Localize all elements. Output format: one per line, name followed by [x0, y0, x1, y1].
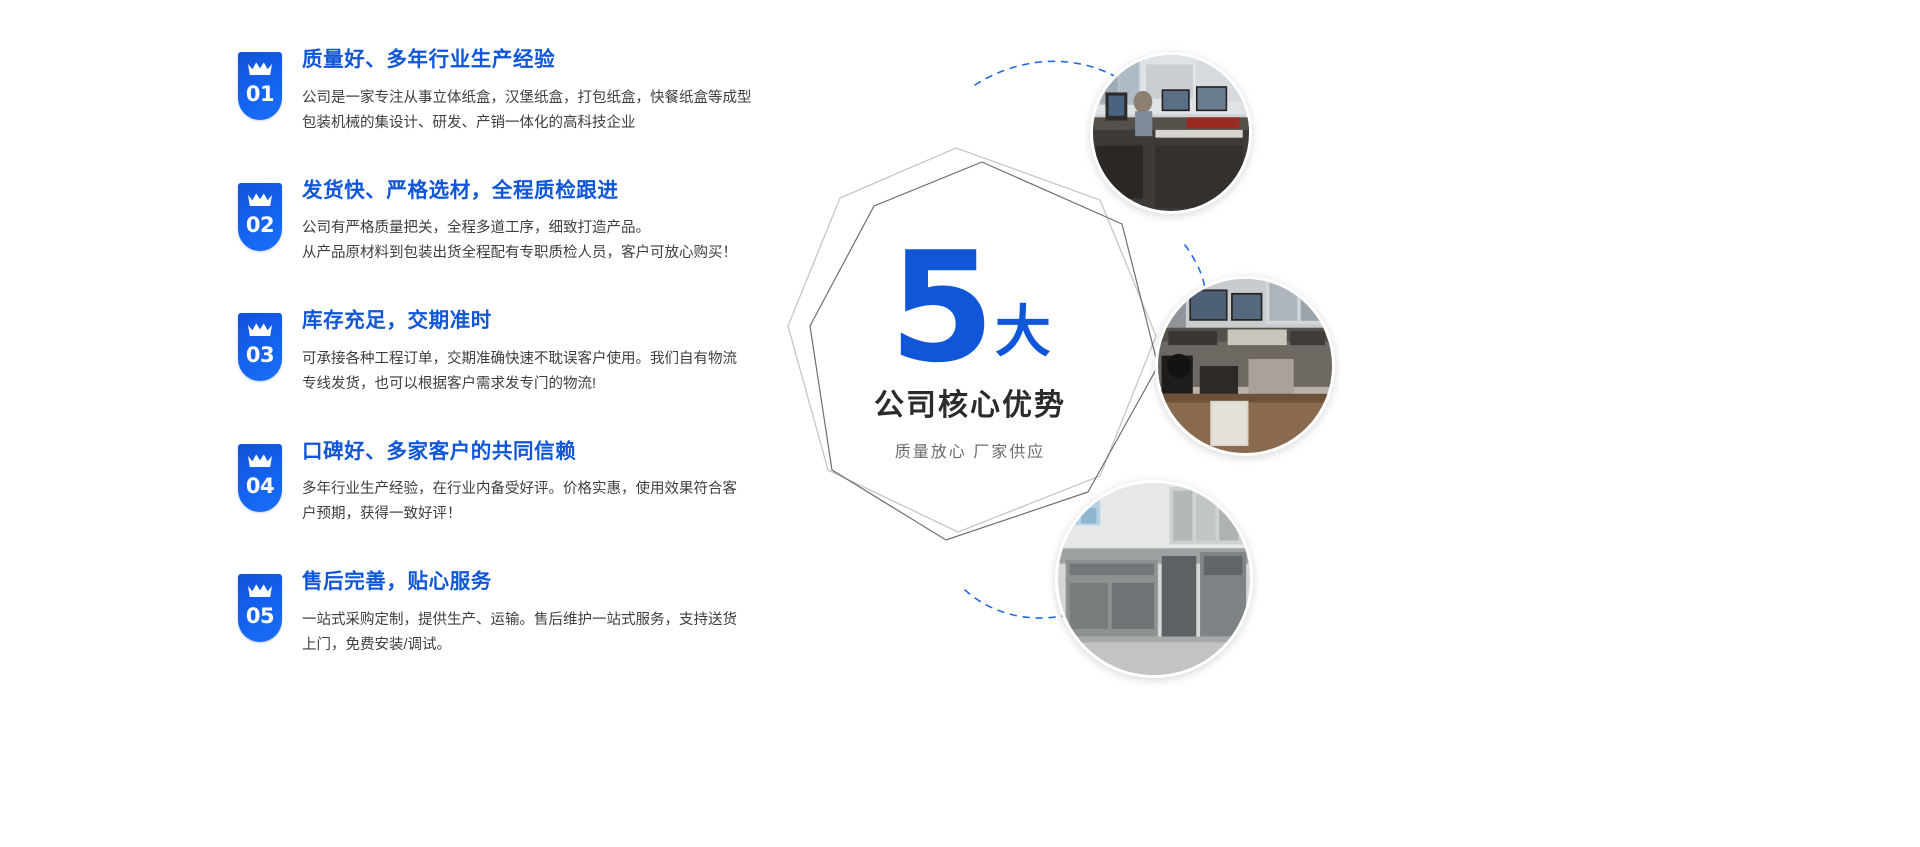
office-desks-photo	[1155, 276, 1335, 456]
feature-body: 一站式采购定制，提供生产、运输。售后维护一站式服务，支持送货 上门，免费安装/调…	[302, 608, 737, 658]
crown-icon	[247, 583, 273, 599]
feature-title: 口碑好、多家客户的共同信赖	[302, 440, 737, 465]
feature-body-line: 包装机械的集设计、研发、产销一体化的高科技企业	[302, 111, 752, 136]
feature-body: 公司是一家专注从事立体纸盒，汉堡纸盒，打包纸盒，快餐纸盒等成型 包装机械的集设计…	[302, 86, 752, 136]
photo-group	[1040, 40, 1370, 700]
feature-item-04[interactable]: 04 口碑好、多家客户的共同信赖 多年行业生产经验，在行业内备受好评。价格实惠，…	[238, 440, 798, 528]
feature-body-line: 多年行业生产经验，在行业内备受好评。价格实惠，使用效果符合客	[302, 477, 737, 502]
crown-icon	[247, 453, 273, 469]
office-workstation-photo	[1090, 52, 1252, 214]
feature-body-line: 从产品原材料到包装出货全程配有专职质检人员，客户可放心购买！	[302, 241, 737, 266]
feature-list: 01 质量好、多年行业生产经验 公司是一家专注从事立体纸盒，汉堡纸盒，打包纸盒，…	[238, 48, 798, 658]
crown-icon	[247, 192, 273, 208]
feature-text: 库存充足，交期准时 可承接各种工程订单，交期准确快速不耽误客户使用。我们自有物流…	[302, 309, 737, 397]
feature-badge: 02	[238, 183, 282, 251]
feature-number: 03	[246, 345, 274, 366]
feature-text: 发货快、严格选材，全程质检跟进 公司有严格质量把关，全程多道工序，细致打造产品。…	[302, 179, 737, 267]
feature-text: 售后完善，贴心服务 一站式采购定制，提供生产、运输。售后维护一站式服务，支持送货…	[302, 570, 737, 658]
feature-title: 售后完善，贴心服务	[302, 570, 737, 595]
feature-badge: 01	[238, 52, 282, 120]
factory-machine-photo	[1055, 480, 1253, 678]
feature-body: 公司有严格质量把关，全程多道工序，细致打造产品。 从产品原材料到包装出货全程配有…	[302, 216, 737, 266]
feature-item-05[interactable]: 05 售后完善，贴心服务 一站式采购定制，提供生产、运输。售后维护一站式服务，支…	[238, 570, 798, 658]
feature-title: 发货快、严格选材，全程质检跟进	[302, 179, 737, 204]
feature-number: 04	[246, 476, 274, 497]
feature-body: 多年行业生产经验，在行业内备受好评。价格实惠，使用效果符合客 户预期，获得一致好…	[302, 477, 737, 527]
feature-item-02[interactable]: 02 发货快、严格选材，全程质检跟进 公司有严格质量把关，全程多道工序，细致打造…	[238, 179, 798, 267]
feature-body-line: 可承接各种工程订单，交期准确快速不耽误客户使用。我们自有物流	[302, 347, 737, 372]
office-desks-image	[1158, 279, 1332, 453]
crown-icon	[247, 61, 273, 77]
feature-number: 05	[246, 606, 274, 627]
core-advantage-headline: 公司核心优势	[874, 380, 1066, 424]
feature-body-line: 专线发货，也可以根据客户需求发专门的物流!	[302, 372, 737, 397]
office-workstation-image	[1093, 55, 1249, 211]
feature-item-01[interactable]: 01 质量好、多年行业生产经验 公司是一家专注从事立体纸盒，汉堡纸盒，打包纸盒，…	[238, 48, 798, 136]
feature-badge: 05	[238, 574, 282, 642]
advantage-count: 5	[889, 238, 991, 378]
advantages-banner: 01 质量好、多年行业生产经验 公司是一家专注从事立体纸盒，汉堡纸盒，打包纸盒，…	[0, 0, 1920, 847]
feature-body-line: 一站式采购定制，提供生产、运输。售后维护一站式服务，支持送货	[302, 608, 737, 633]
feature-text: 口碑好、多家客户的共同信赖 多年行业生产经验，在行业内备受好评。价格实惠，使用效…	[302, 440, 737, 528]
feature-body-line: 公司有严格质量把关，全程多道工序，细致打造产品。	[302, 216, 737, 241]
core-advantage-subline: 质量放心 厂家供应	[895, 438, 1045, 462]
feature-title: 库存充足，交期准时	[302, 309, 737, 334]
feature-title: 质量好、多年行业生产经验	[302, 48, 752, 73]
feature-number: 01	[246, 84, 274, 105]
feature-number: 02	[246, 215, 274, 236]
core-advantage-number-row: 5 大	[889, 238, 1051, 378]
feature-badge: 04	[238, 444, 282, 512]
feature-body-line: 户预期，获得一致好评！	[302, 502, 737, 527]
feature-badge: 03	[238, 313, 282, 381]
feature-body-line: 公司是一家专注从事立体纸盒，汉堡纸盒，打包纸盒，快餐纸盒等成型	[302, 86, 752, 111]
crown-icon	[247, 322, 273, 338]
feature-item-03[interactable]: 03 库存充足，交期准时 可承接各种工程订单，交期准确快速不耽误客户使用。我们自…	[238, 309, 798, 397]
feature-text: 质量好、多年行业生产经验 公司是一家专注从事立体纸盒，汉堡纸盒，打包纸盒，快餐纸…	[302, 48, 752, 136]
feature-body: 可承接各种工程订单，交期准确快速不耽误客户使用。我们自有物流 专线发货，也可以根…	[302, 347, 737, 397]
feature-body-line: 上门，免费安装/调试。	[302, 633, 737, 658]
factory-machine-image	[1058, 483, 1250, 675]
